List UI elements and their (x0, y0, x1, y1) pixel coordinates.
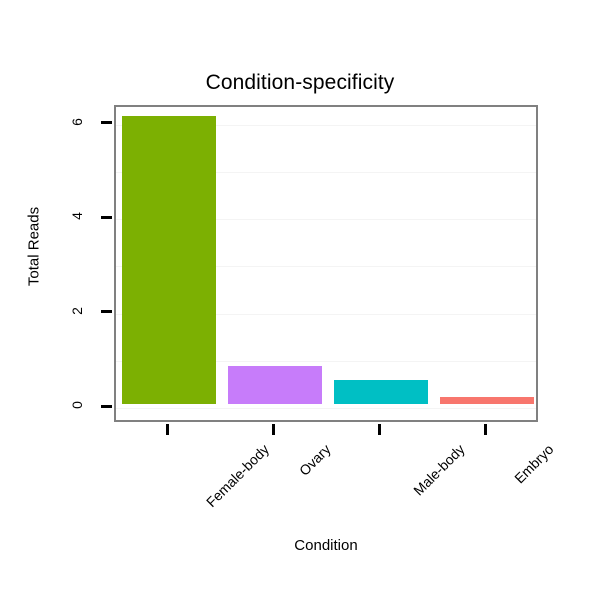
bar-embryo (440, 397, 533, 404)
bar-male-body (334, 380, 427, 404)
y-tick-label-2: 2 (69, 291, 85, 331)
bar-female-body (122, 116, 215, 404)
x-tick-label-female-body: Female-body (203, 441, 272, 510)
x-tick-label-male-body: Male-body (410, 441, 468, 499)
y-axis-title: Total Reads (26, 187, 43, 307)
x-tick-mark-2 (378, 424, 381, 435)
bar-chart: Condition-specificity Total Reads 0246 F… (0, 0, 600, 600)
x-tick-mark-3 (484, 424, 487, 435)
y-tick-label-6: 6 (69, 102, 85, 142)
x-tick-label-embryo: Embryo (511, 441, 556, 486)
y-tick-mark-4 (101, 216, 112, 219)
chart-title: Condition-specificity (0, 70, 600, 96)
gridline-y-0 (116, 408, 536, 409)
plot-panel (114, 105, 538, 422)
y-tick-mark-6 (101, 121, 112, 124)
x-tick-mark-0 (166, 424, 169, 435)
y-tick-label-0: 0 (69, 385, 85, 425)
y-tick-mark-2 (101, 310, 112, 313)
y-tick-label-4: 4 (69, 196, 85, 236)
y-tick-mark-0 (101, 405, 112, 408)
bar-ovary (228, 366, 321, 404)
x-tick-label-ovary: Ovary (296, 441, 334, 479)
x-axis-title: Condition (114, 537, 538, 554)
x-tick-mark-1 (272, 424, 275, 435)
